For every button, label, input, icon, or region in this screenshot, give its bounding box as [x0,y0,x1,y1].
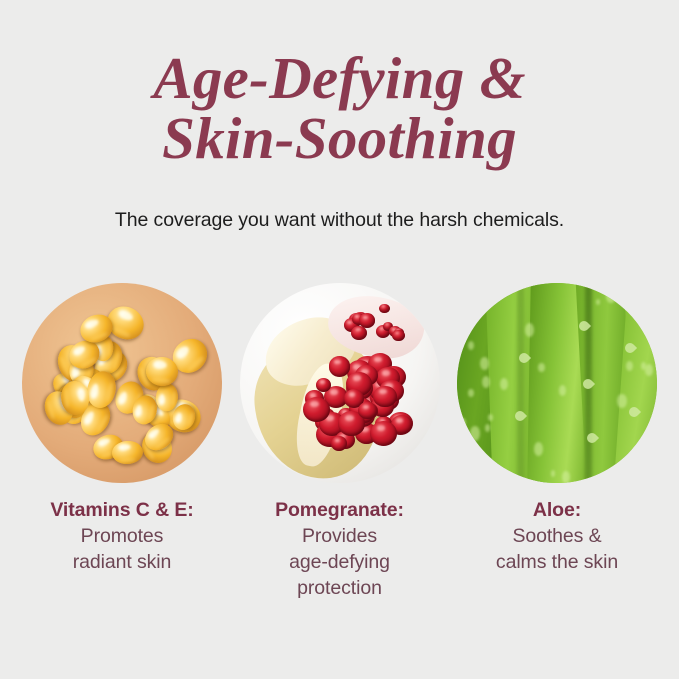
aloe-spot [470,426,480,441]
ingredient-card-vitamins: Vitamins C & E: Promotes radiant skin [22,283,222,601]
aloe-spot [468,389,474,398]
pomegranate-aril [373,386,397,408]
ingredient-label-vitamins: Vitamins C & E: [7,497,237,523]
aloe-spot [468,341,474,350]
ingredient-row: Vitamins C & E: Promotes radiant skin Po… [0,283,679,601]
pomegranate-arils-top [344,299,412,343]
aloe-spot [525,323,534,337]
ingredient-desc-line: Promotes [7,523,237,549]
pomegranate-photo [240,283,440,483]
ingredient-desc-line: Provides [225,523,455,549]
page-title: Age-Defying & Skin-Soothing [0,48,679,168]
ingredient-desc-line: radiant skin [7,549,237,575]
page-title-line-2: Skin-Soothing [0,108,679,168]
aloe-spot [480,357,489,370]
aloe-spot [538,363,544,373]
ingredient-card-pomegranate: Pomegranate: Provides age-defying protec… [240,283,440,601]
ingredient-caption-aloe: Aloe: Soothes & calms the skin [442,497,672,575]
page-subtitle: The coverage you want without the harsh … [0,207,679,233]
aloe-spot [626,361,633,371]
pomegranate-aril [359,313,375,327]
pomegranate-aril [358,402,376,419]
aloe-spot [562,471,570,483]
aloe-spot [596,299,600,305]
ingredient-desc-line: protection [225,575,455,601]
aloe-spot [459,418,465,427]
pomegranate-aril [392,330,404,341]
ingredient-desc-line: calms the skin [442,549,672,575]
pomegranate-arils [292,335,432,475]
ingredient-caption-vitamins: Vitamins C & E: Promotes radiant skin [7,497,237,575]
page-title-line-1: Age-Defying & [0,48,679,108]
ingredient-caption-pomegranate: Pomegranate: Provides age-defying protec… [225,497,455,601]
ingredient-card-aloe: Aloe: Soothes & calms the skin [457,283,657,601]
aloe-spot [485,424,490,432]
aloe-spot [606,289,616,304]
pomegranate-aril [351,326,367,340]
ingredient-label-aloe: Aloe: [442,497,672,523]
ingredient-desc-line: age-defying [225,549,455,575]
aloe-spot [474,463,481,474]
vitamin-capsules-photo [22,283,222,483]
pomegranate-aril [370,421,397,446]
aloe-leaves-photo [457,283,657,483]
pomegranate-aril [379,304,390,314]
ingredient-desc-line: Soothes & [442,523,672,549]
pomegranate-aril [329,356,351,376]
aloe-spot [559,385,566,395]
aloe-spot [482,376,490,388]
pomegranate-aril [303,397,330,422]
aloe-spot [488,414,492,421]
aloe-leaf-gap [517,283,524,483]
pomegranate-aril [331,436,347,450]
ingredient-label-pomegranate: Pomegranate: [225,497,455,523]
